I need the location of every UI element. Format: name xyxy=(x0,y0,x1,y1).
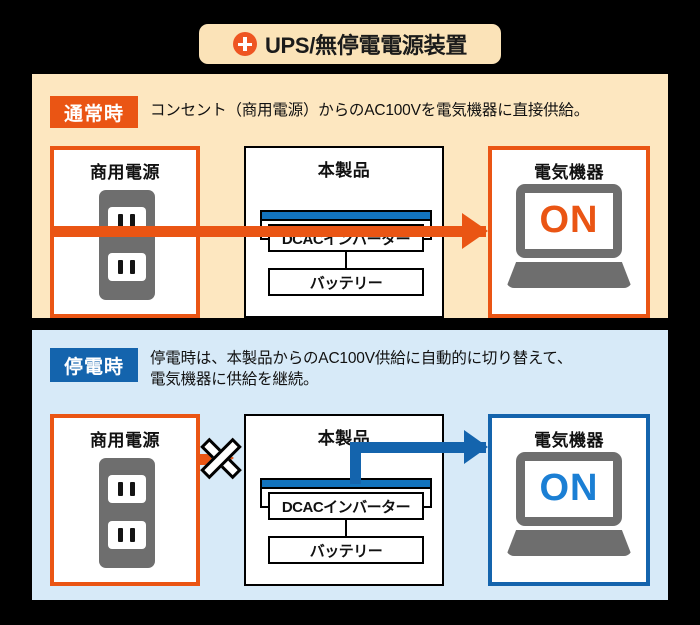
power-outlet-icon xyxy=(99,458,155,568)
x-cross-icon xyxy=(198,436,244,482)
outlet-slot xyxy=(118,482,123,496)
section-label-outage: 停電時 xyxy=(50,348,138,382)
inverter-box: DCACインバーター xyxy=(268,492,424,520)
outlet-slot xyxy=(130,528,135,542)
outlet-socket xyxy=(108,475,146,503)
plus-circle-icon xyxy=(233,32,257,56)
flow-arrow-head-normal xyxy=(462,213,488,249)
box-title-source-outage: 商用電源 xyxy=(54,426,196,451)
device-status-outage: ON xyxy=(525,467,613,510)
box-title-device-outage: 電気機器 xyxy=(492,426,646,451)
battery-box: バッテリー xyxy=(268,268,424,296)
box-source-outage: 商用電源 xyxy=(50,414,200,586)
laptop-screen: ON xyxy=(525,461,613,517)
device-status-normal: ON xyxy=(525,199,613,242)
box-product-outage: 本製品 DCACインバーター バッテリー xyxy=(244,414,444,586)
laptop-icon: ON xyxy=(516,452,622,526)
battery-box: バッテリー xyxy=(268,536,424,564)
flow-arrow-head-outage xyxy=(464,430,488,464)
inverter-battery-connector xyxy=(345,520,347,536)
inverter-battery-connector xyxy=(345,252,347,268)
section-caption-normal: コンセント（商用電源）からのAC100Vを電気機器に直接供給。 xyxy=(150,100,589,121)
outlet-slot xyxy=(118,528,123,542)
laptop-icon: ON xyxy=(516,184,622,258)
box-title-product-normal: 本製品 xyxy=(246,156,442,181)
flow-arrow-shaft-normal xyxy=(50,226,486,237)
outlet-socket xyxy=(108,521,146,549)
page-title-pill: UPS/無停電電源装置 xyxy=(199,24,501,64)
outlet-slot xyxy=(130,482,135,496)
laptop-base xyxy=(506,262,632,288)
box-title-source-normal: 商用電源 xyxy=(54,158,196,183)
outlet-slot xyxy=(118,260,123,274)
section-label-normal: 通常時 xyxy=(50,96,138,128)
box-device-normal: 電気機器 ON xyxy=(488,146,650,318)
product-bus-bar xyxy=(260,210,432,221)
box-title-device-normal: 電気機器 xyxy=(492,158,646,183)
power-outlet-icon xyxy=(99,190,155,300)
laptop-screen: ON xyxy=(525,193,613,249)
box-device-outage: 電気機器 ON xyxy=(488,414,650,586)
page-title: UPS/無停電電源装置 xyxy=(265,28,467,60)
outlet-slot xyxy=(130,260,135,274)
outlet-socket xyxy=(108,253,146,281)
laptop-base xyxy=(506,530,632,556)
section-outage: 停電時 停電時は、本製品からのAC100V供給に自動的に切り替えて、 電気機器に… xyxy=(32,330,668,600)
product-bus-bar xyxy=(260,478,432,489)
section-caption-outage: 停電時は、本製品からのAC100V供給に自動的に切り替えて、 電気機器に供給を継… xyxy=(150,348,572,390)
section-normal: 通常時 コンセント（商用電源）からのAC100Vを電気機器に直接供給。 商用電源… xyxy=(32,74,668,318)
